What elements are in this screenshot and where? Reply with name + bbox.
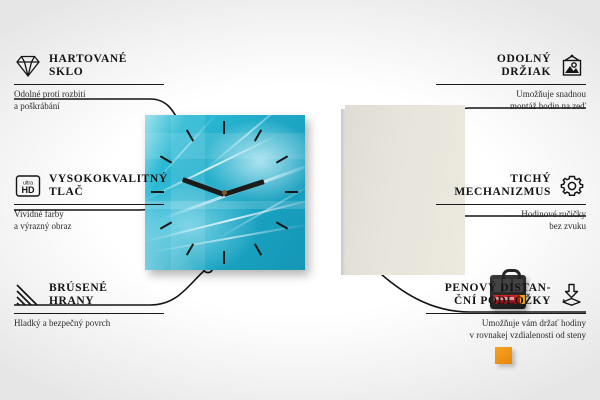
infographic-canvas: HARTOVANÉ SKLO Odolné proti rozbití a po… [0, 0, 600, 400]
divider [436, 84, 586, 85]
divider [426, 313, 586, 314]
clock-center-hub [222, 190, 227, 195]
hour-hand [223, 179, 264, 197]
ultra-hd-icon: ultra HD [14, 172, 42, 200]
diamond-icon [14, 52, 42, 80]
hatched-edge-icon [14, 281, 42, 309]
gear-icon [558, 172, 586, 200]
clock-tick [223, 251, 225, 264]
feature-title: VYSOKOKVALITNÝ TLAČ [49, 173, 168, 199]
feature-description: Umožňuje vám držať hodiny v rovnakej vzd… [426, 318, 586, 341]
feature-silent-mechanism: TICHÝ MECHANIZMUS Hodinové ručičky bez z… [436, 172, 586, 232]
wall-clock-face [145, 115, 305, 270]
feature-description: Hladký a bezpečný povrch [14, 318, 164, 330]
feature-description: Vividné farby a výrazný obraz [14, 209, 164, 232]
feature-description: Odolné proti rozbití a poškrábání [14, 89, 164, 112]
divider [14, 84, 164, 85]
feature-title: BRÚSENÉ HRANY [49, 282, 108, 308]
feature-foam-spacers: PENOVÝ DISTAN- ČNÍ PODLOŽKY Umožňuje vám… [426, 281, 586, 341]
feature-description: Hodinové ručičky bez zvuku [436, 209, 586, 232]
feature-polished-edges: BRÚSENÉ HRANY Hladký a bezpečný povrch [14, 281, 164, 330]
arrow-onto-layers-icon [558, 281, 586, 309]
clock-tick [223, 121, 225, 134]
clock-tick [254, 243, 262, 255]
clock-tick [285, 191, 298, 193]
hanging-picture-frame-icon [558, 52, 586, 80]
divider [14, 204, 164, 205]
feature-tempered-glass: HARTOVANÉ SKLO Odolné proti rozbití a po… [14, 52, 164, 112]
feature-description: Umožňuje snadnou montáž hodin na zeď [436, 89, 586, 112]
feature-high-quality-print: ultra HD VYSOKOKVALITNÝ TLAČ Vividné far… [14, 172, 164, 232]
feature-title: TICHÝ MECHANIZMUS [454, 173, 551, 199]
divider [436, 204, 586, 205]
feature-durable-hanger: ODOLNÝ DRŽIAK Umožňuje snadnou montáž ho… [436, 52, 586, 112]
divider [14, 313, 164, 314]
svg-text:HD: HD [22, 185, 35, 195]
feature-title: ODOLNÝ DRŽIAK [497, 53, 551, 79]
product-photo [145, 105, 365, 275]
feature-title: PENOVÝ DISTAN- ČNÍ PODLOŽKY [445, 282, 551, 308]
feature-title: HARTOVANÉ SKLO [49, 53, 127, 79]
foam-spacer-pad [495, 347, 512, 364]
